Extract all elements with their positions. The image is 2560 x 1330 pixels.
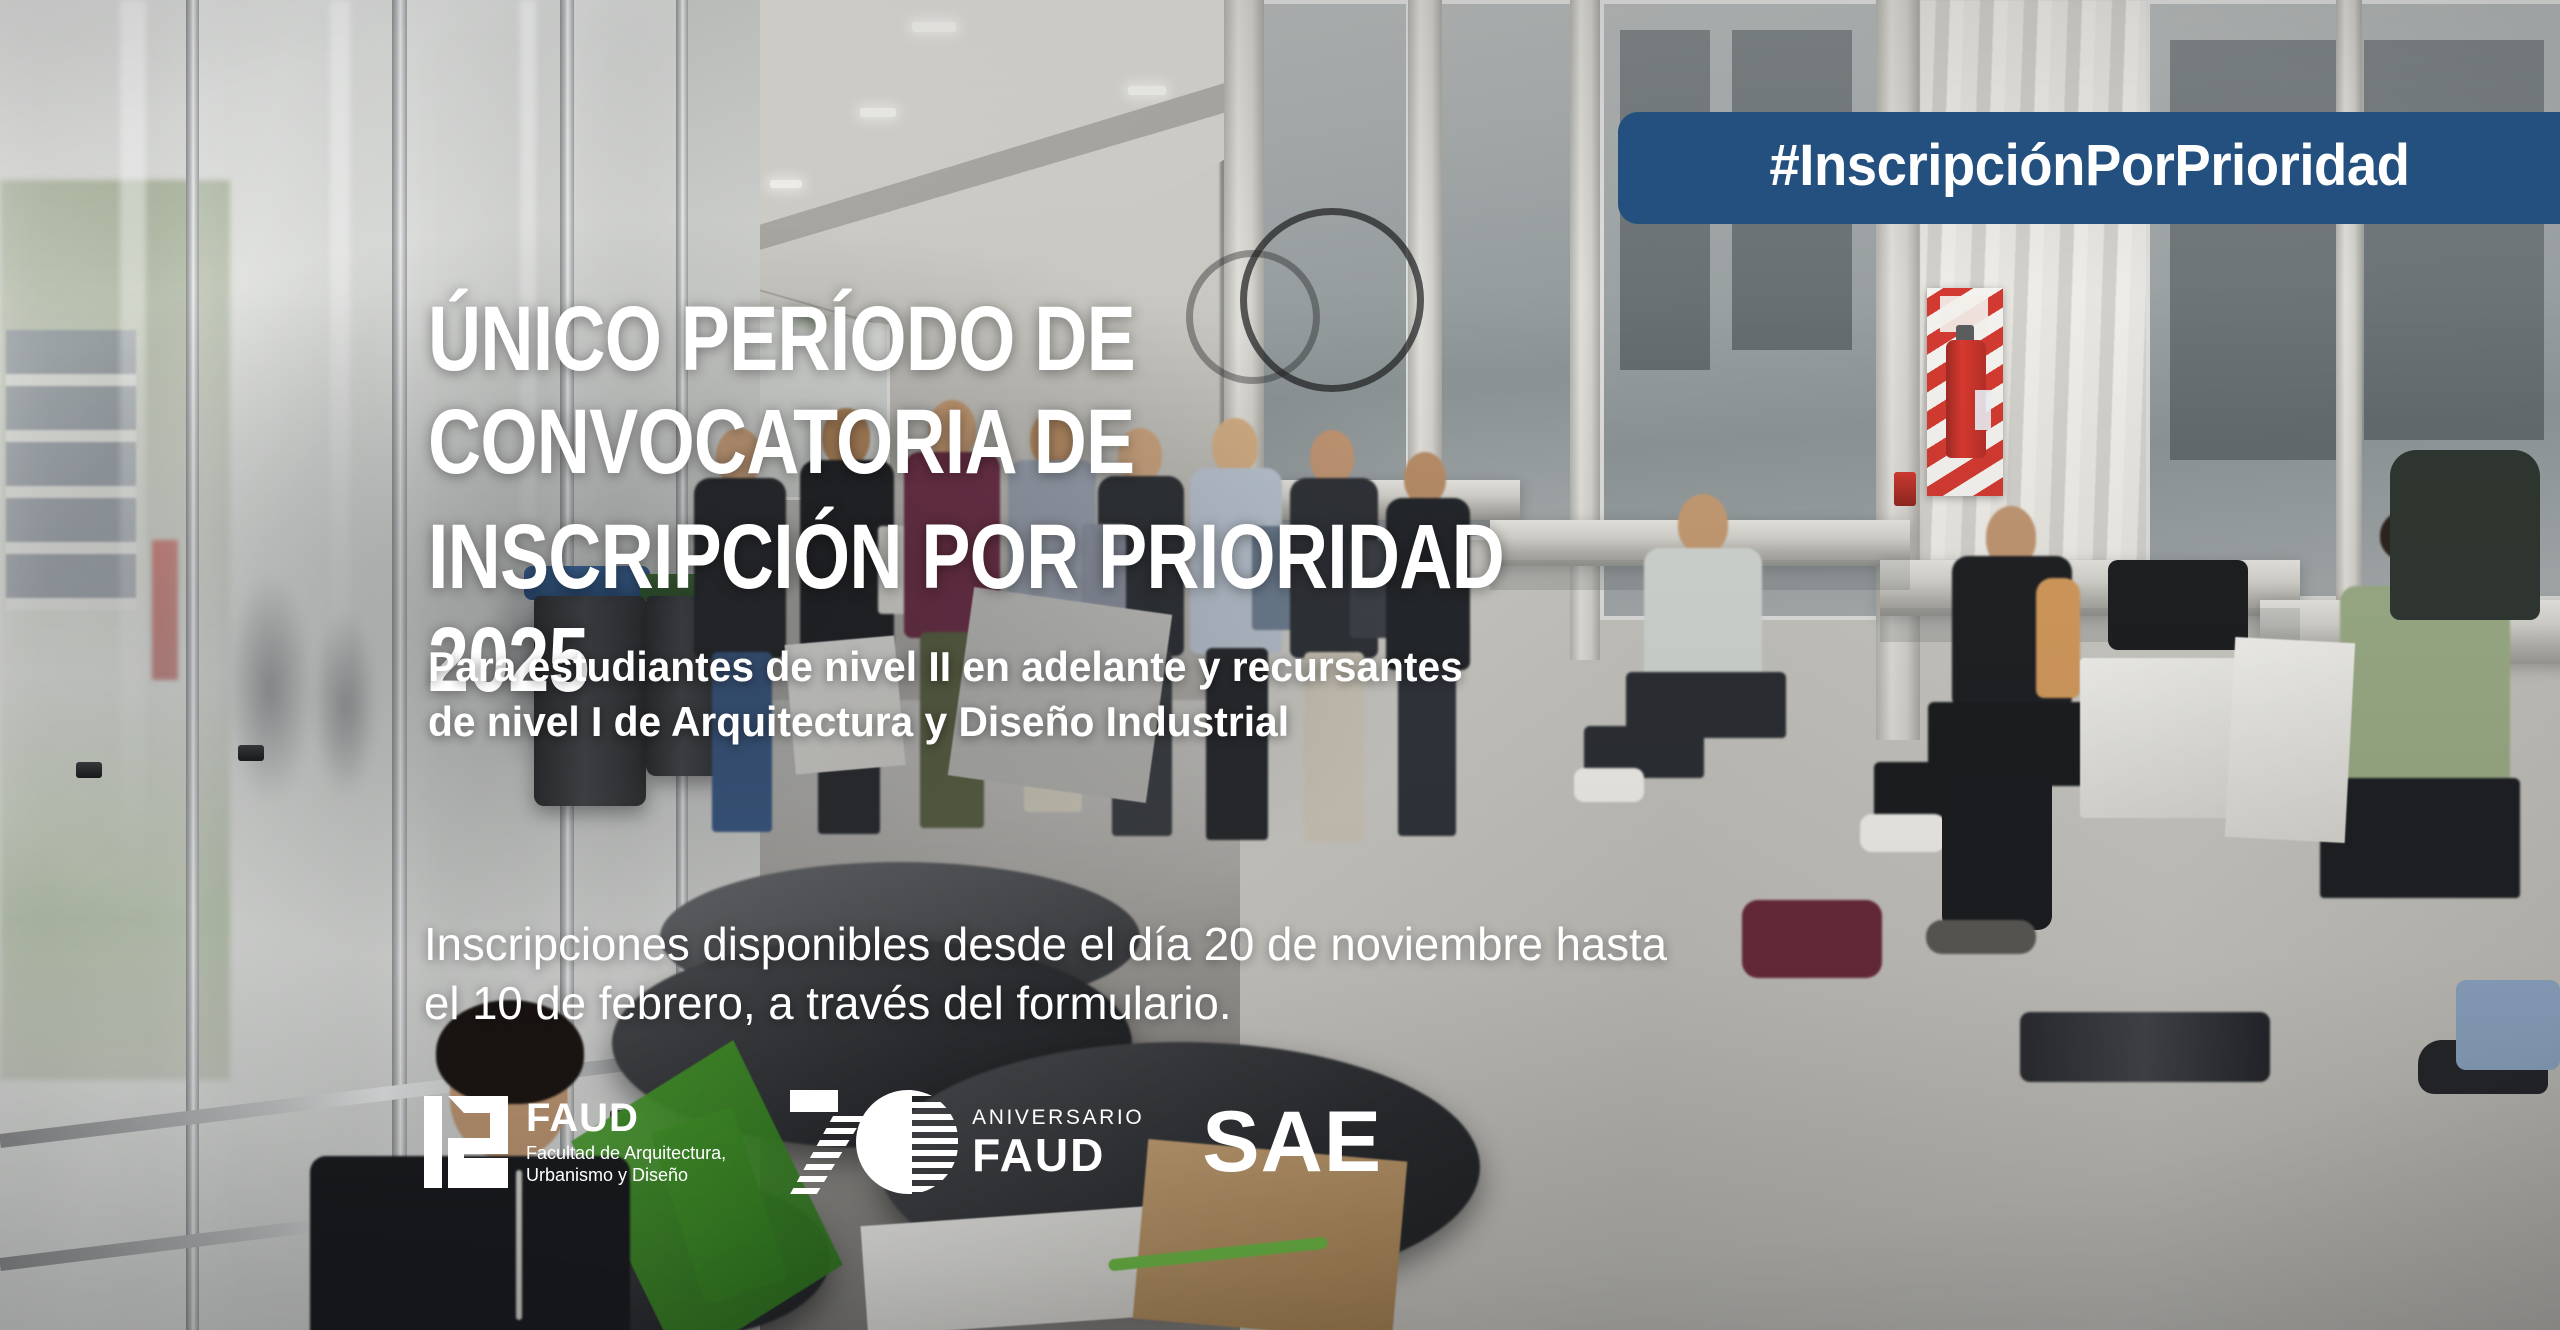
logo-row: FAUD Facultad de Arquitectura, Urbanismo… bbox=[424, 1082, 1382, 1202]
subtitle-line-1: Para estudiantes de nivel II en adelante… bbox=[428, 640, 1980, 695]
faud-sub-line-1: Facultad de Arquitectura, bbox=[526, 1143, 726, 1165]
faud-abbr: FAUD bbox=[526, 1098, 726, 1138]
hashtag-badge[interactable]: #InscripciónPorPrioridad bbox=[1618, 112, 2560, 224]
body-line-2: el 10 de febrero, a través del formulari… bbox=[424, 974, 2226, 1033]
anniversary-logo: ANIVERSARIO FAUD bbox=[790, 1090, 1144, 1194]
body-line-1: Inscripciones disponibles desde el día 2… bbox=[424, 915, 2226, 974]
faud-wordmark: FAUD Facultad de Arquitectura, Urbanismo… bbox=[526, 1098, 726, 1187]
subtitle: Para estudiantes de nivel II en adelante… bbox=[428, 640, 1980, 749]
sae-logo: SAE bbox=[1202, 1099, 1382, 1185]
anniversary-top-label: ANIVERSARIO bbox=[972, 1107, 1144, 1128]
faud-spiral-mark-icon bbox=[424, 1096, 508, 1188]
anniversary-bottom-label: FAUD bbox=[972, 1132, 1144, 1178]
faud-sub-line-2: Urbanismo y Diseño bbox=[526, 1165, 726, 1187]
anniversary-number-icon bbox=[790, 1090, 958, 1194]
subtitle-line-2: de nivel I de Arquitectura y Diseño Indu… bbox=[428, 695, 1980, 750]
hashtag-label: #InscripciónPorPrioridad bbox=[1769, 132, 2409, 199]
content-overlay: #InscripciónPorPrioridad Único período d… bbox=[0, 0, 2560, 1330]
body-text: Inscripciones disponibles desde el día 2… bbox=[424, 915, 2226, 1033]
headline-line-1: Único período de convocatoria de bbox=[428, 288, 1135, 493]
poster-canvas: #InscripciónPorPrioridad Único período d… bbox=[0, 0, 2560, 1330]
